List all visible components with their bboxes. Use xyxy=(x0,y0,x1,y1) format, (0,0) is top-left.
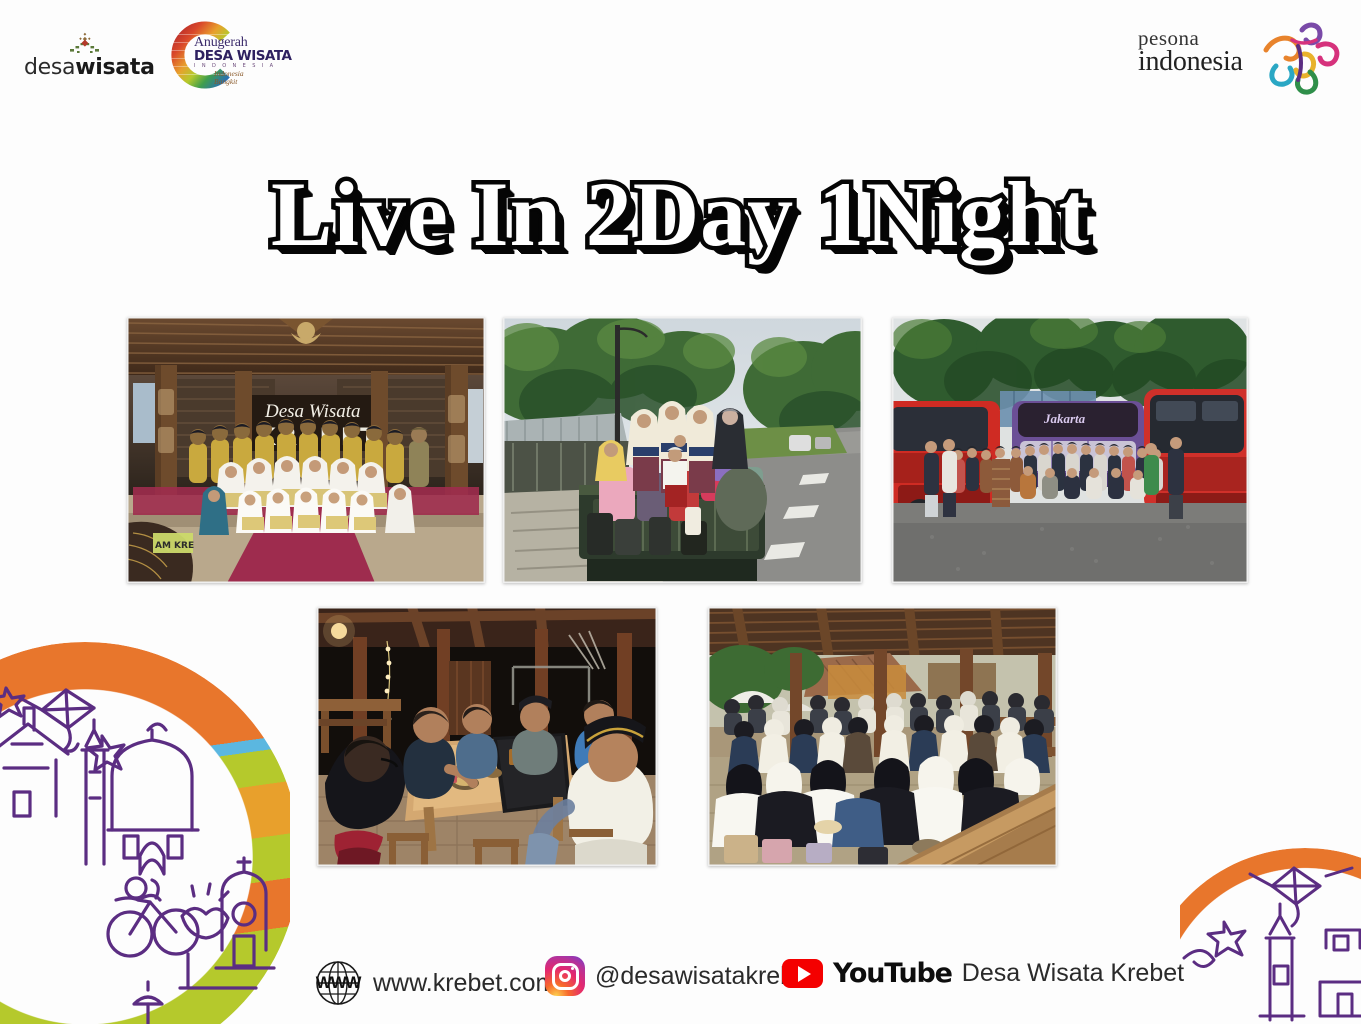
youtube-contact[interactable]: YouTube Desa Wisata Krebet xyxy=(782,958,1184,989)
header-logo-row: desawisata xyxy=(0,0,1361,110)
www-globe-icon: WWW xyxy=(313,958,363,1008)
desa-wisata-word-bold: wisata xyxy=(75,55,154,80)
page-title-text: Live In 2Day 1Night xyxy=(271,164,1090,264)
star-icon xyxy=(87,736,124,770)
photo-night-meeting xyxy=(317,607,657,866)
tower-icon xyxy=(82,720,108,864)
www-icon-text: WWW xyxy=(313,973,363,993)
colorful-bird-flourish xyxy=(1258,20,1342,96)
desa-wisata-logo: desawisata xyxy=(24,32,152,82)
svg-text:Desa Wisata: Desa Wisata xyxy=(264,401,361,422)
slide-canvas: desawisata xyxy=(0,0,1361,1024)
desa-wisata-word-light: desa xyxy=(24,55,75,80)
svg-text:AM KRE: AM KRE xyxy=(155,541,194,551)
dotted-diamond-ornament xyxy=(68,30,102,54)
youtube-label: Desa Wisata Krebet xyxy=(962,959,1184,988)
house-icon xyxy=(0,708,68,816)
anugerah-wordmark: Anugerah DESA WISATA I N D O N E S I A I… xyxy=(194,36,278,86)
website-label: www.krebet.com xyxy=(373,969,556,998)
instagram-contact[interactable]: @desawisatakrebet xyxy=(545,956,815,996)
instagram-icon xyxy=(545,956,585,996)
anugerah-line5: Bangkit xyxy=(214,78,278,86)
photo-krebet-group: Desa Wisata KREBET xyxy=(127,317,485,583)
youtube-icon xyxy=(782,959,823,988)
photo-bus-group: Jakarta xyxy=(892,317,1248,583)
flower-icon xyxy=(182,884,228,938)
footer-contact-bar: WWW www.krebet.com @desawisatakrebet You… xyxy=(0,952,1361,1014)
anugerah-desa-wisata-logo: Anugerah DESA WISATA I N D O N E S I A I… xyxy=(168,16,276,94)
bicycle-icon xyxy=(108,878,198,956)
star-icon xyxy=(1208,922,1245,956)
kite-icon xyxy=(1250,868,1352,926)
desa-wisata-wordmark: desawisata xyxy=(24,55,155,80)
mosque-icon xyxy=(108,724,198,874)
youtube-brand: YouTube xyxy=(833,958,952,989)
pesona-indonesia-logo: pesona indonesia xyxy=(1138,22,1338,92)
photo-truck-departure xyxy=(503,317,862,583)
page-title: Live In 2Day 1Night xyxy=(0,164,1361,264)
anugerah-line2: DESA WISATA xyxy=(194,49,278,63)
svg-text:Jakarta: Jakarta xyxy=(1043,411,1086,426)
star-icon xyxy=(0,688,24,717)
photo-crowd-dining xyxy=(708,607,1057,866)
kite-icon xyxy=(20,690,94,751)
website-contact[interactable]: WWW www.krebet.com xyxy=(313,958,556,1008)
pesona-line2: indonesia xyxy=(1138,46,1243,78)
